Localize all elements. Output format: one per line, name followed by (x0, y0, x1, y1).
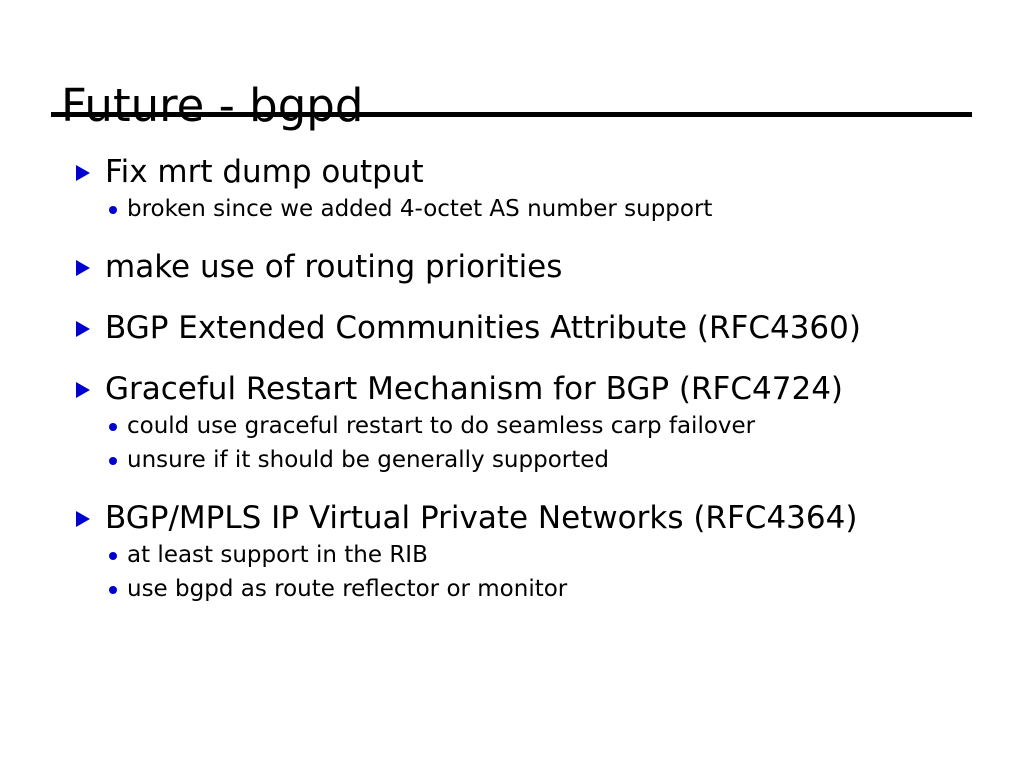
bullet-level2-text: could use graceful restart to do seamles… (127, 413, 755, 439)
triangle-right-bullet-icon (76, 511, 90, 527)
bullet-level1: BGP Extended Communities Attribute (RFC4… (0, 308, 1024, 348)
round-dot-bullet-icon (109, 586, 117, 594)
bullet-level1: Graceful Restart Mechanism for BGP (RFC4… (0, 369, 1024, 409)
round-dot-bullet-icon (109, 423, 117, 431)
slide-body: Fix mrt dump output broken since we adde… (0, 152, 1024, 606)
bullet-level1-text: BGP Extended Communities Attribute (RFC4… (105, 310, 861, 346)
bullet-level2: use bgpd as route reflector or monitor (0, 572, 1024, 606)
round-dot-bullet-icon (109, 206, 117, 214)
presentation-slide: Future - bgpd Fix mrt dump output broken… (0, 0, 1024, 768)
triangle-right-bullet-icon (76, 321, 90, 337)
bullet-level1: Fix mrt dump output (0, 152, 1024, 192)
bullet-level2-text: use bgpd as route reflector or monitor (127, 576, 567, 602)
bullet-group: Fix mrt dump output broken since we adde… (0, 152, 1024, 226)
triangle-right-bullet-icon (76, 260, 90, 276)
bullet-level2: could use graceful restart to do seamles… (0, 409, 1024, 443)
bullet-group: Graceful Restart Mechanism for BGP (RFC4… (0, 369, 1024, 477)
bullet-level2-text: unsure if it should be generally support… (127, 447, 609, 473)
triangle-right-bullet-icon (76, 382, 90, 398)
bullet-level1-text: BGP/MPLS IP Virtual Private Networks (RF… (105, 500, 857, 536)
bullet-level2-text: at least support in the RIB (127, 542, 428, 568)
round-dot-bullet-icon (109, 457, 117, 465)
bullet-level1-text: Graceful Restart Mechanism for BGP (RFC4… (105, 371, 843, 407)
bullet-level1: BGP/MPLS IP Virtual Private Networks (RF… (0, 498, 1024, 538)
bullet-level1-text: make use of routing priorities (105, 249, 562, 285)
bullet-group: make use of routing priorities (0, 247, 1024, 287)
slide-title: Future - bgpd (61, 78, 363, 134)
bullet-level1: make use of routing priorities (0, 247, 1024, 287)
bullet-level2-text: broken since we added 4-octet AS number … (127, 196, 712, 222)
bullet-level1-text: Fix mrt dump output (105, 154, 424, 190)
bullet-group: BGP/MPLS IP Virtual Private Networks (RF… (0, 498, 1024, 606)
round-dot-bullet-icon (109, 552, 117, 560)
triangle-right-bullet-icon (76, 165, 90, 181)
bullet-level2: at least support in the RIB (0, 538, 1024, 572)
bullet-level2: broken since we added 4-octet AS number … (0, 192, 1024, 226)
title-underline-rule (51, 112, 972, 117)
bullet-group: BGP Extended Communities Attribute (RFC4… (0, 308, 1024, 348)
bullet-level2: unsure if it should be generally support… (0, 443, 1024, 477)
